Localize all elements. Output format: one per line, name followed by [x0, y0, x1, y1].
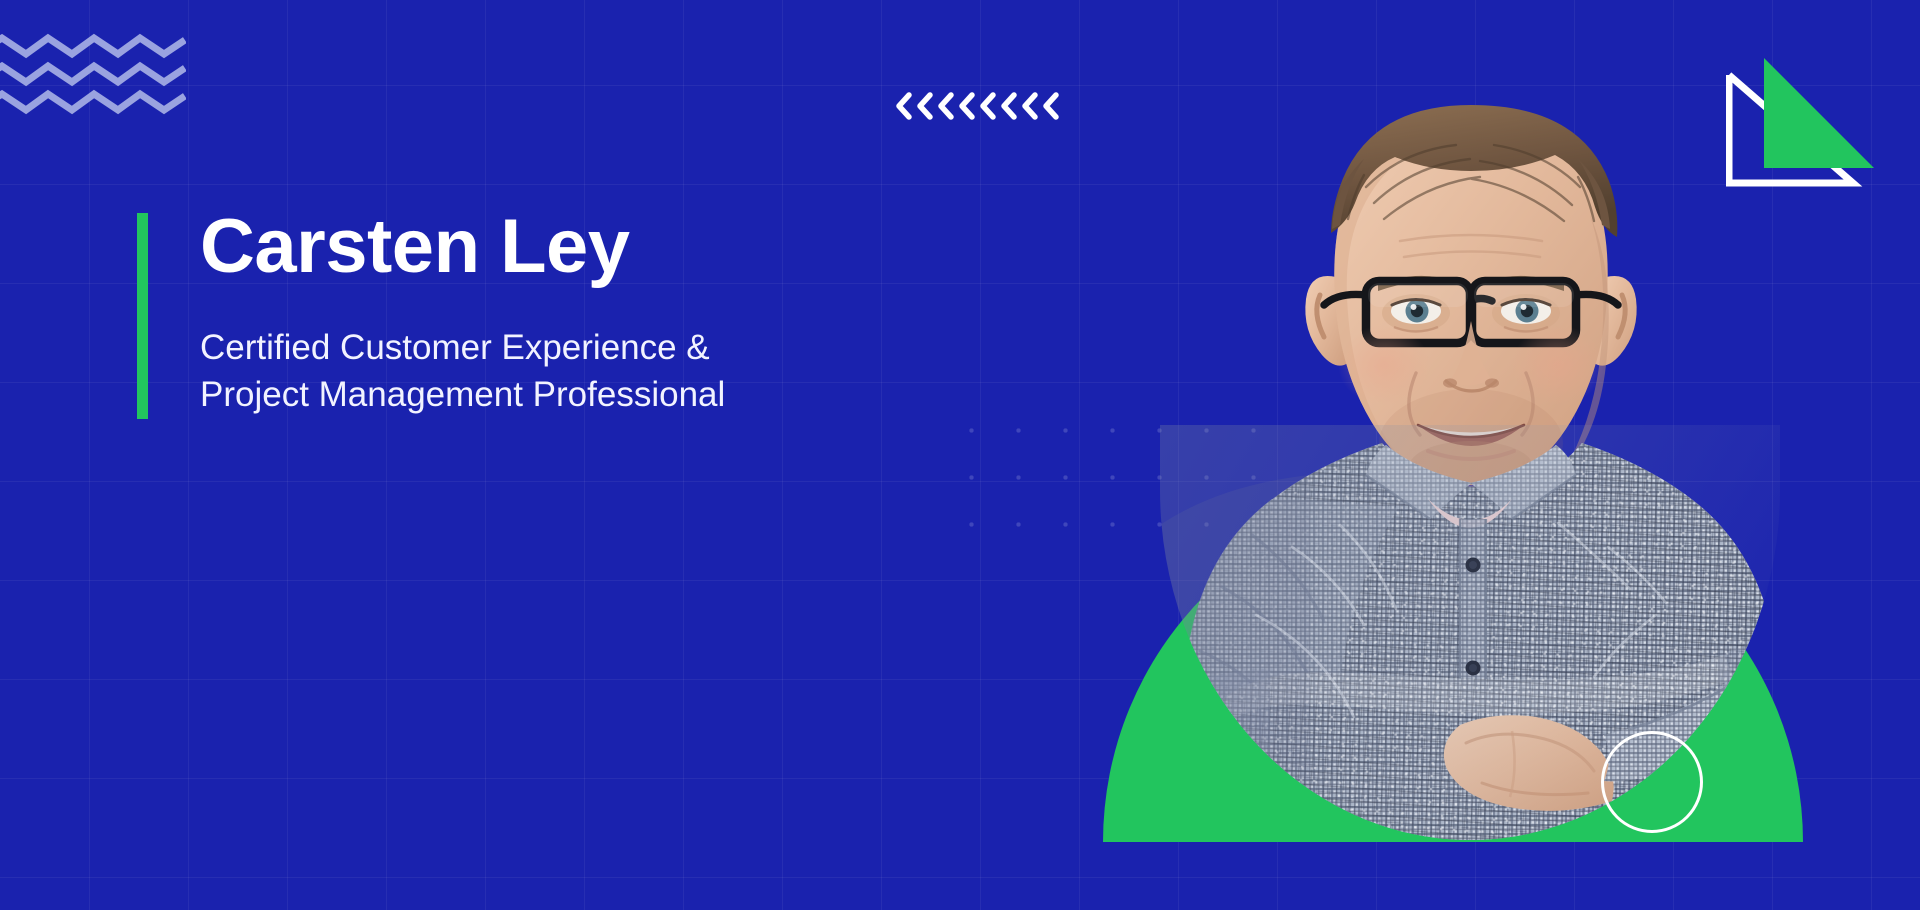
chevron-left-icon: [916, 92, 933, 120]
triangle-solid-icon: [1764, 58, 1874, 168]
chevron-left-icon: [1042, 92, 1059, 120]
page-subtitle: Certified Customer Experience & Project …: [200, 325, 725, 418]
page-title: Carsten Ley: [200, 209, 725, 285]
chevron-left-icon: [979, 92, 996, 120]
zigzag-icon: [0, 32, 186, 122]
chevron-left-icon: [1021, 92, 1038, 120]
portrait-photo: [1160, 95, 1780, 840]
subtitle-line-1: Certified Customer Experience &: [200, 325, 725, 372]
subtitle-line-2: Project Management Professional: [200, 372, 725, 419]
chevron-left-row: [895, 92, 1059, 120]
chevron-left-icon: [937, 92, 954, 120]
green-accent-bar: [137, 213, 148, 419]
chevron-left-icon: [895, 92, 912, 120]
headline-block: Carsten Ley Certified Customer Experienc…: [137, 213, 725, 419]
chevron-left-icon: [1000, 92, 1017, 120]
circle-outline-icon: [1601, 731, 1703, 833]
chevron-left-icon: [958, 92, 975, 120]
profile-banner: Carsten Ley Certified Customer Experienc…: [0, 0, 1920, 910]
